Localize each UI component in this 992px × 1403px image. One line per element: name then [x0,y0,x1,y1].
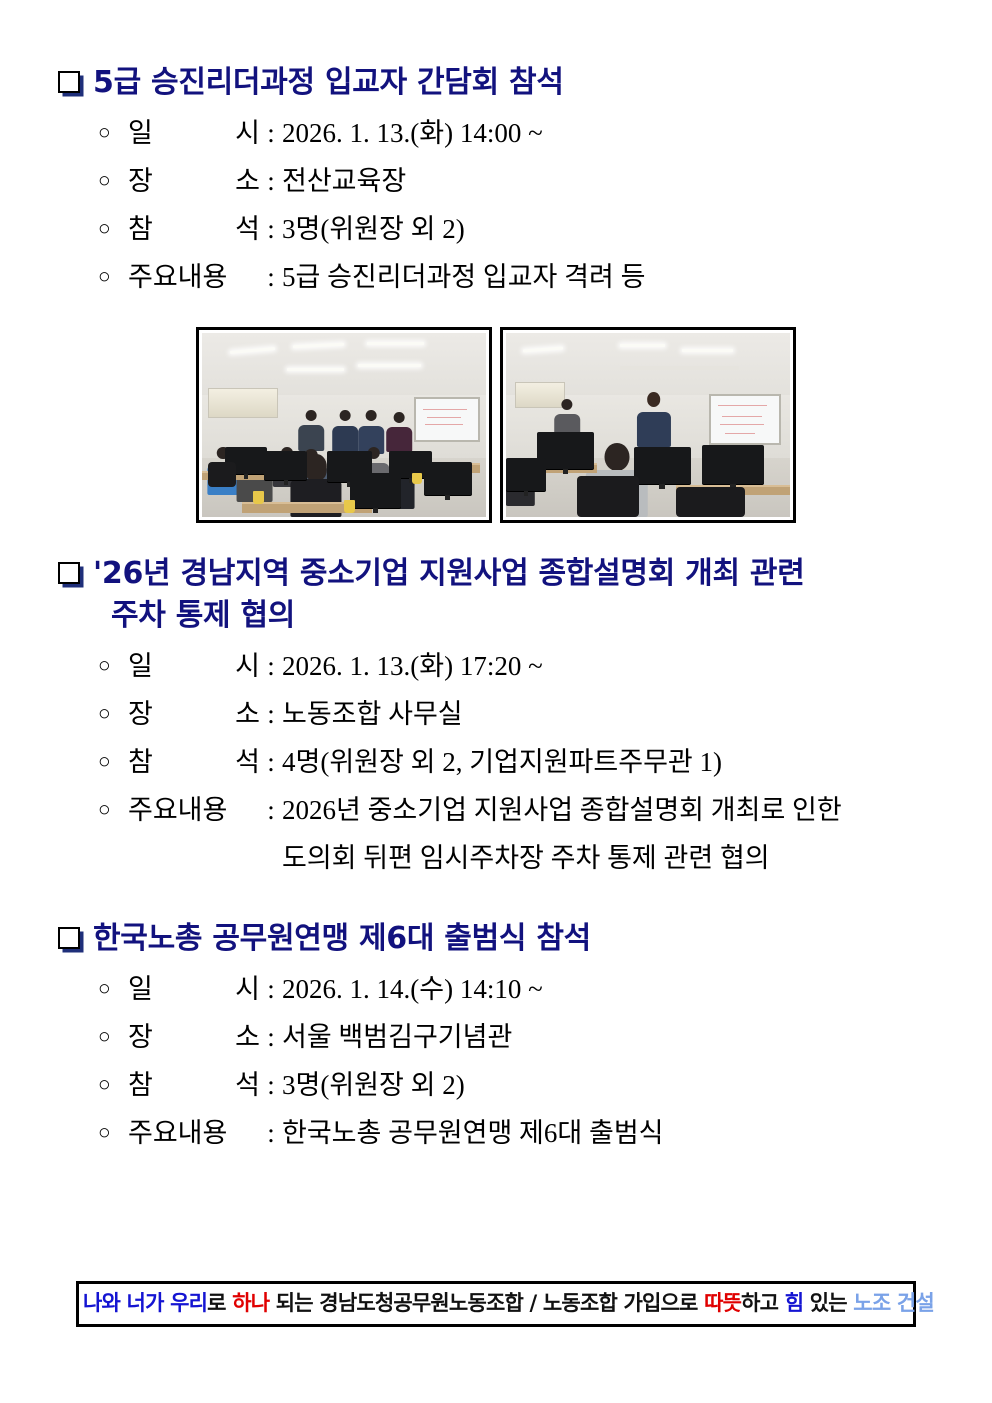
photo-image-left [202,333,486,517]
slogan-part-1: 나와 너가 우리 [83,1291,207,1315]
section-1-title: 5급 승진리더과정 입교자 간담회 참석 [93,62,564,105]
section-2: '26년 경남지역 중소기업 지원사업 종합설명회 개최 관련 주차 통제 협의… [0,553,992,882]
detail-value: 노동조합 사무실 [282,690,463,738]
section-3-heading: 한국노총 공무원연맹 제6대 출범식 참석 [0,918,992,961]
detail-label: 주요내용 [128,786,260,834]
detail-label: 장 소 [128,1013,260,1061]
section-2-heading: '26년 경남지역 중소기업 지원사업 종합설명회 개최 관련 주차 통제 협의 [0,553,992,638]
footer-banner-wrapper: 나와 너가 우리로 하나 되는 경남도청공무원노동조합 / 노동조합 가입으로 … [76,1281,916,1327]
detail-value: 2026년 중소기업 지원사업 종합설명회 개최로 인한 [282,786,842,834]
detail-row: ○ 일 시 : 2026. 1. 13.(화) 14:00 ~ [98,109,992,157]
photo-thumbnail[interactable] [500,327,796,523]
detail-row: ○ 주요내용 : 한국노총 공무원연맹 제6대 출범식 [98,1109,992,1157]
detail-continuation-value: 도의회 뒤편 임시주차장 주차 통제 관련 협의 [282,834,770,882]
photo-thumbnail[interactable] [196,327,492,523]
circle-bullet-icon: ○ [98,1026,128,1047]
slogan-part-6: 하고 [741,1291,785,1315]
section-1-heading: 5급 승진리더과정 입교자 간담회 참석 [0,62,992,105]
slogan-part-3: 하나 [232,1291,269,1315]
detail-row: ○ 참 석 : 3명(위원장 외 2) [98,205,992,253]
square-bullet-icon [58,71,80,93]
circle-bullet-icon: ○ [98,751,128,772]
document-page: 5급 승진리더과정 입교자 간담회 참석 ○ 일 시 : 2026. 1. 13… [0,0,992,1403]
section-3-details: ○ 일 시 : 2026. 1. 14.(수) 14:10 ~ ○ 장 소 : … [0,965,992,1157]
detail-row: ○ 주요내용 : 2026년 중소기업 지원사업 종합설명회 개최로 인한 [98,786,992,834]
square-bullet-icon [58,927,80,949]
detail-value: 4명(위원장 외 2, 기업지원파트주무관 1) [282,738,722,786]
circle-bullet-icon: ○ [98,218,128,239]
slogan-part-7: 힘 [785,1291,804,1315]
detail-continuation-row: 도의회 뒤편 임시주차장 주차 통제 관련 협의 [98,834,992,882]
detail-label: 주요내용 [128,1109,260,1157]
detail-separator: : [260,205,282,253]
circle-bullet-icon: ○ [98,170,128,191]
detail-separator: : [260,738,282,786]
detail-row: ○ 장 소 : 노동조합 사무실 [98,690,992,738]
slogan-part-8: 있는 [803,1291,853,1315]
section-2-details: ○ 일 시 : 2026. 1. 13.(화) 17:20 ~ ○ 장 소 : … [0,642,992,882]
circle-bullet-icon: ○ [98,799,128,820]
section-2-title-line2: 주차 통제 협의 [93,595,805,638]
section-1-photo-row [0,327,992,523]
detail-separator: : [260,642,282,690]
detail-row: ○ 일 시 : 2026. 1. 14.(수) 14:10 ~ [98,965,992,1013]
detail-row: ○ 참 석 : 3명(위원장 외 2) [98,1061,992,1109]
detail-separator: : [260,965,282,1013]
detail-row: ○ 장 소 : 서울 백범김구기념관 [98,1013,992,1061]
detail-value: 2026. 1. 13.(화) 17:20 ~ [282,642,543,690]
circle-bullet-icon: ○ [98,266,128,287]
section-1-details: ○ 일 시 : 2026. 1. 13.(화) 14:00 ~ ○ 장 소 : … [0,109,992,301]
detail-value: 2026. 1. 13.(화) 14:00 ~ [282,109,543,157]
detail-label: 일 시 [128,109,260,157]
slogan-part-4: 되는 경남도청공무원노동조합 / 노동조합 가입으로 [269,1291,704,1315]
detail-value: 3명(위원장 외 2) [282,1061,465,1109]
detail-separator: : [260,690,282,738]
section-spacer-1 [0,523,992,553]
detail-separator: : [260,1061,282,1109]
circle-bullet-icon: ○ [98,1074,128,1095]
detail-value: 한국노총 공무원연맹 제6대 출범식 [282,1109,664,1157]
section-3: 한국노총 공무원연맹 제6대 출범식 참석 ○ 일 시 : 2026. 1. 1… [0,918,992,1157]
section-spacer-2 [0,882,992,918]
detail-separator: : [260,109,282,157]
detail-label: 참 석 [128,738,260,786]
detail-row: ○ 주요내용 : 5급 승진리더과정 입교자 격려 등 [98,253,992,301]
footer-slogan-banner: 나와 너가 우리로 하나 되는 경남도청공무원노동조합 / 노동조합 가입으로 … [76,1281,916,1327]
section-1: 5급 승진리더과정 입교자 간담회 참석 ○ 일 시 : 2026. 1. 13… [0,62,992,523]
section-3-title: 한국노총 공무원연맹 제6대 출범식 참석 [93,918,591,961]
detail-label: 일 시 [128,965,260,1013]
detail-row: ○ 일 시 : 2026. 1. 13.(화) 17:20 ~ [98,642,992,690]
circle-bullet-icon: ○ [98,122,128,143]
detail-label: 참 석 [128,1061,260,1109]
slogan-part-2: 로 [207,1291,232,1315]
circle-bullet-icon: ○ [98,655,128,676]
section-2-title-line1: '26년 경남지역 중소기업 지원사업 종합설명회 개최 관련 [93,556,805,591]
slogan-part-5: 따뜻 [704,1291,741,1315]
detail-value: 5급 승진리더과정 입교자 격려 등 [282,253,645,301]
section-2-title: '26년 경남지역 중소기업 지원사업 종합설명회 개최 관련 주차 통제 협의 [93,553,805,638]
detail-separator: : [260,157,282,205]
detail-separator: : [260,1013,282,1061]
detail-value: 서울 백범김구기념관 [282,1013,512,1061]
detail-label: 일 시 [128,642,260,690]
slogan-part-9: 노조 건설 [853,1291,934,1315]
detail-label: 장 소 [128,157,260,205]
detail-row: ○ 장 소 : 전산교육장 [98,157,992,205]
square-bullet-icon [58,562,80,584]
detail-separator: : [260,253,282,301]
top-spacer [0,0,992,62]
detail-label: 참 석 [128,205,260,253]
detail-value: 전산교육장 [282,157,406,205]
circle-bullet-icon: ○ [98,703,128,724]
detail-value: 2026. 1. 14.(수) 14:10 ~ [282,965,543,1013]
detail-separator: : [260,1109,282,1157]
detail-separator: : [260,786,282,834]
circle-bullet-icon: ○ [98,1122,128,1143]
detail-label: 장 소 [128,690,260,738]
detail-value: 3명(위원장 외 2) [282,205,465,253]
detail-row: ○ 참 석 : 4명(위원장 외 2, 기업지원파트주무관 1) [98,738,992,786]
continuation-indent [98,834,282,882]
circle-bullet-icon: ○ [98,978,128,999]
detail-label: 주요내용 [128,253,260,301]
photo-image-right [506,333,790,517]
